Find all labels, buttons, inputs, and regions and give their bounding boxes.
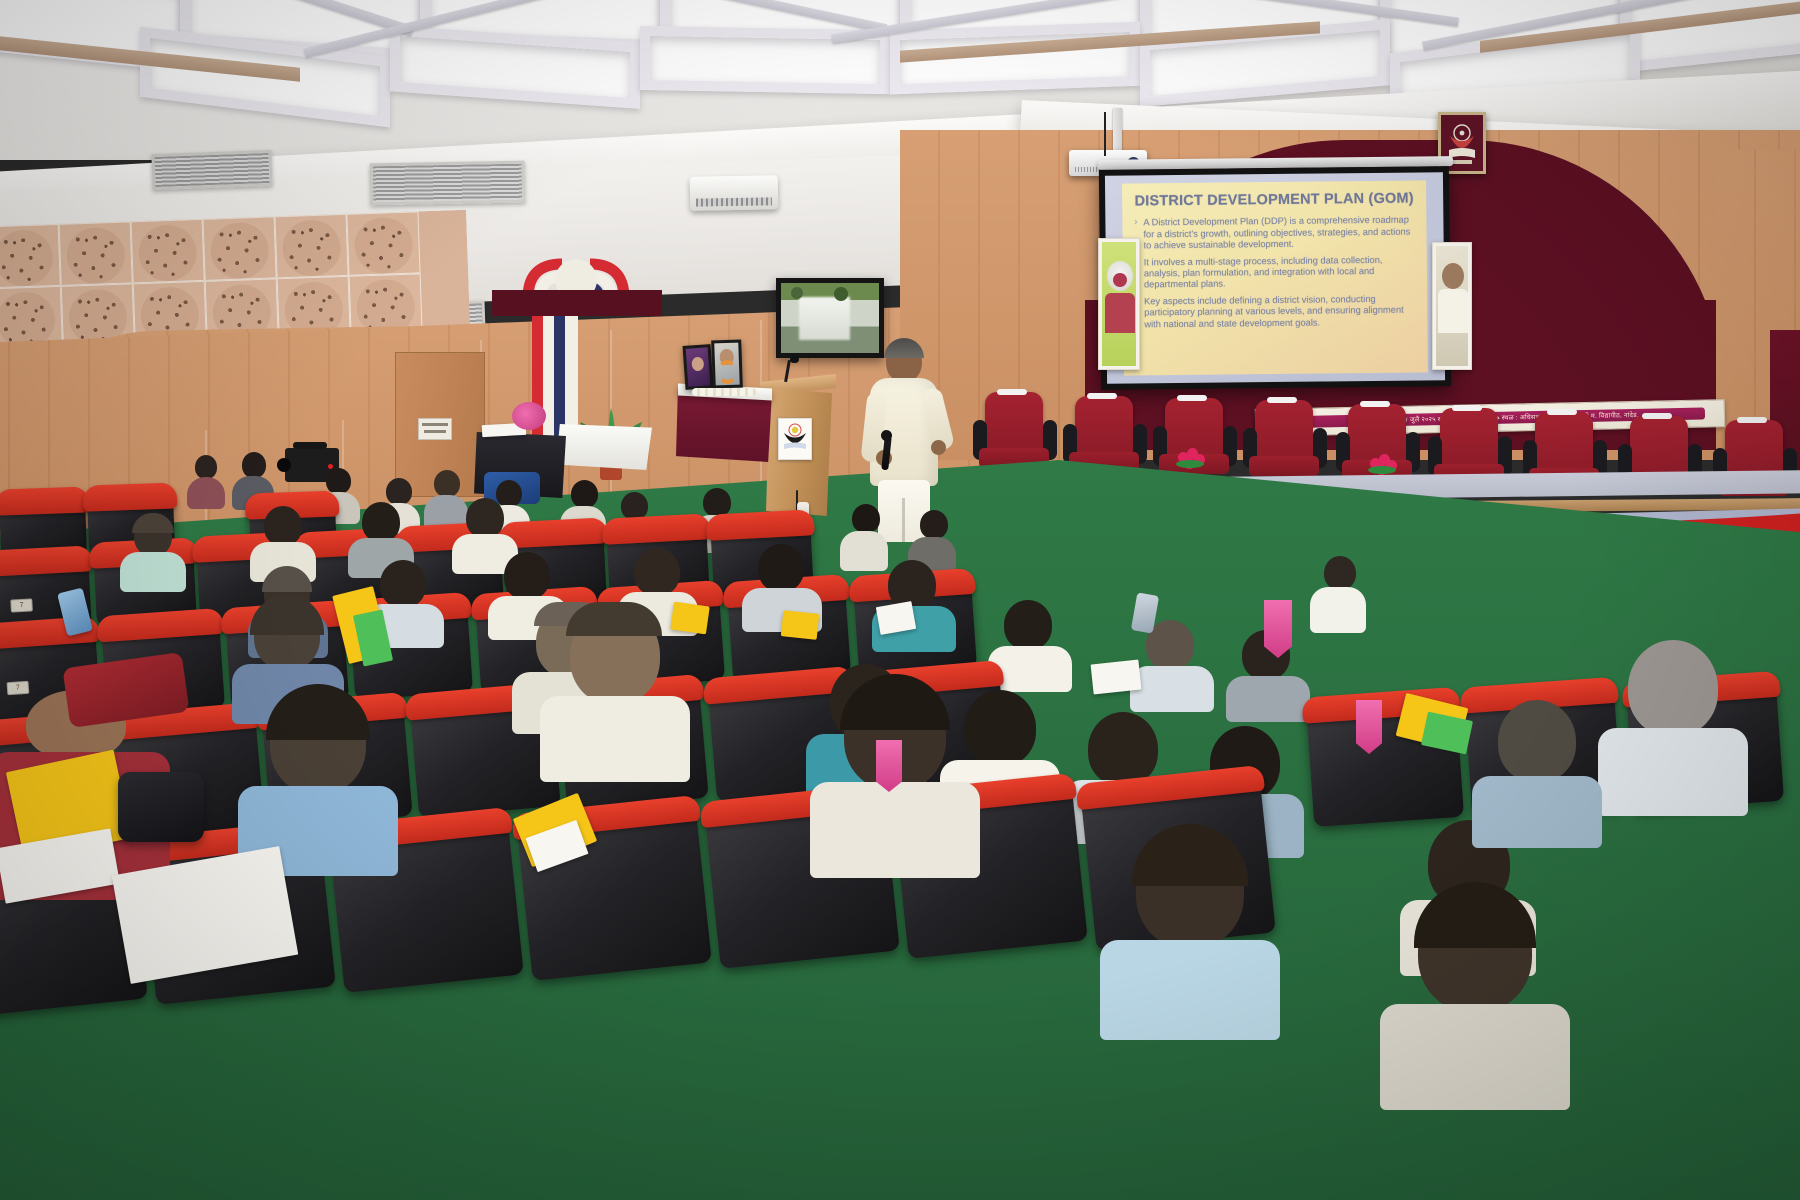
chair-headrest-trim	[1547, 409, 1577, 415]
poster-left-portrait	[1098, 238, 1140, 370]
camera-lens	[277, 458, 291, 472]
flower-bouquet	[1368, 452, 1398, 476]
person-torso	[120, 552, 186, 592]
poster-body	[1105, 293, 1135, 333]
audience-person	[120, 516, 186, 582]
chair-back	[1630, 416, 1688, 478]
chair-back	[985, 392, 1043, 454]
person-head	[242, 452, 266, 478]
podium-mic-head	[790, 356, 799, 363]
slide-bullet-list: A District Development Plan (DDP) is a c…	[1134, 215, 1415, 331]
person-head	[852, 504, 880, 533]
slide-bullet: A District Development Plan (DDP) is a c…	[1134, 215, 1415, 252]
projector-vent	[1075, 167, 1101, 172]
chair-back	[1535, 412, 1593, 474]
person-torso	[1310, 587, 1366, 633]
audience-person	[238, 690, 398, 870]
chair-headrest-trim	[1087, 393, 1117, 399]
audience-person	[348, 502, 414, 568]
chair-back	[1075, 396, 1133, 458]
person-torso	[187, 477, 225, 509]
person-hair	[132, 513, 174, 533]
ac-grille-center	[370, 161, 526, 206]
door-sign	[418, 418, 452, 440]
waterfall-tree	[834, 287, 848, 301]
projector-mount-arm	[1113, 108, 1122, 156]
person-head	[1088, 712, 1158, 786]
person-head	[386, 478, 412, 505]
handout-yellow	[781, 610, 820, 640]
poster-face	[1442, 263, 1464, 289]
podium-emblem-icon	[782, 422, 808, 456]
person-head	[920, 510, 948, 539]
sculpture-crossbar	[492, 290, 662, 316]
side-table-cloth	[556, 424, 652, 470]
stage-chair[interactable]	[975, 392, 1055, 470]
screen-surface: DISTRICT DEVELOPMENT PLAN (GOM) A Distri…	[1105, 172, 1445, 384]
person-head	[1004, 600, 1052, 650]
framed-portrait	[711, 339, 743, 388]
audience-person	[1310, 556, 1366, 630]
person-head	[466, 498, 504, 538]
poster-body	[1438, 289, 1468, 333]
person-torso	[810, 782, 980, 878]
person-head	[264, 506, 302, 546]
speaker-leg-split	[902, 498, 905, 542]
poster-face-detail	[1113, 273, 1127, 287]
person-head	[326, 468, 351, 494]
person-head	[1628, 640, 1718, 736]
chair-headrest-trim	[997, 389, 1027, 395]
person-torso	[1380, 1004, 1570, 1110]
chair-headrest-trim	[1452, 405, 1482, 411]
waterfall-detail	[799, 297, 850, 340]
backpack	[118, 772, 204, 842]
flower-bouquet	[1176, 446, 1206, 470]
person-torso	[1598, 728, 1748, 816]
door-sign-line	[422, 423, 448, 426]
waterfall-tree	[791, 287, 803, 299]
audience-person	[1380, 890, 1570, 1100]
pink-flower-bunch	[512, 402, 546, 430]
camera-top-handle	[293, 442, 327, 449]
microphone-head	[881, 430, 892, 441]
person-hair	[840, 674, 950, 730]
audience-person	[1472, 700, 1602, 840]
person-hair	[262, 566, 312, 592]
person-hair	[250, 595, 324, 635]
audience-person	[540, 606, 690, 776]
person-torso	[1226, 676, 1310, 722]
person-head	[195, 455, 217, 479]
person-head	[703, 488, 731, 517]
table-flowers	[692, 388, 756, 396]
audience-person	[1100, 832, 1280, 1032]
chair-back	[1255, 400, 1313, 462]
pink-pennant	[876, 740, 902, 792]
chair-headrest-trim	[1360, 401, 1390, 407]
projection-screen[interactable]: DISTRICT DEVELOPMENT PLAN (GOM) A Distri…	[1099, 166, 1451, 390]
handout-white	[1091, 660, 1142, 695]
slide-title: DISTRICT DEVELOPMENT PLAN (GOM)	[1134, 191, 1414, 210]
person-head	[1324, 556, 1356, 590]
chair-seat	[1249, 456, 1319, 476]
pink-pennant	[1264, 600, 1292, 658]
person-hair	[566, 602, 662, 636]
podium-emblem	[778, 418, 812, 460]
chair-headrest-trim	[1737, 417, 1767, 423]
person-hair	[1414, 882, 1536, 948]
presentation-slide: DISTRICT DEVELOPMENT PLAN (GOM) A Distri…	[1122, 181, 1428, 376]
chair-headrest-trim	[1177, 395, 1207, 401]
slide-bullet: Key aspects include defining a district …	[1135, 293, 1416, 330]
chair-headrest-trim	[1267, 397, 1297, 403]
person-head	[362, 502, 400, 542]
auditorium-scene: DISTRICT DEVELOPMENT PLAN (GOM) A Distri…	[0, 0, 1800, 1200]
chair-back	[1440, 408, 1498, 470]
chair-headrest-trim	[1642, 413, 1672, 419]
stage-chair[interactable]	[1245, 400, 1325, 478]
audience-person	[1130, 620, 1214, 706]
person-hair	[1132, 824, 1248, 886]
person-head	[888, 560, 936, 610]
person-torso	[1472, 776, 1602, 848]
audience-person	[250, 506, 316, 572]
slide-bullet: It involves a multi-stage process, inclu…	[1135, 254, 1416, 291]
person-head	[1498, 700, 1576, 782]
audience-person	[1598, 640, 1748, 810]
bouquet-leaf	[1368, 466, 1396, 474]
framed-portrait	[682, 344, 713, 390]
speaker-hair	[884, 338, 924, 358]
projector-cable	[1104, 112, 1106, 156]
person-hair	[266, 684, 370, 740]
seat-headrest	[0, 486, 90, 515]
seat-number-plate: 7	[10, 598, 33, 612]
seat-headrest	[83, 482, 178, 511]
person-torso	[1100, 940, 1280, 1040]
pink-pennant	[1356, 700, 1382, 754]
split-ac-vent	[696, 197, 772, 206]
person-head	[571, 480, 598, 508]
person-torso	[540, 696, 690, 782]
person-torso	[1130, 666, 1214, 712]
ac-grille-left	[151, 150, 272, 190]
person-head	[634, 548, 680, 596]
person-head	[504, 552, 550, 600]
poster-right-portrait	[1432, 242, 1472, 370]
person-head	[758, 544, 804, 592]
audience-person	[185, 455, 225, 507]
audience-person	[840, 504, 888, 568]
speaker-hand-right	[931, 440, 946, 455]
door-sign-line	[424, 430, 446, 433]
bouquet-leaf	[1176, 460, 1204, 468]
person-head	[434, 470, 460, 497]
person-head	[380, 560, 426, 608]
